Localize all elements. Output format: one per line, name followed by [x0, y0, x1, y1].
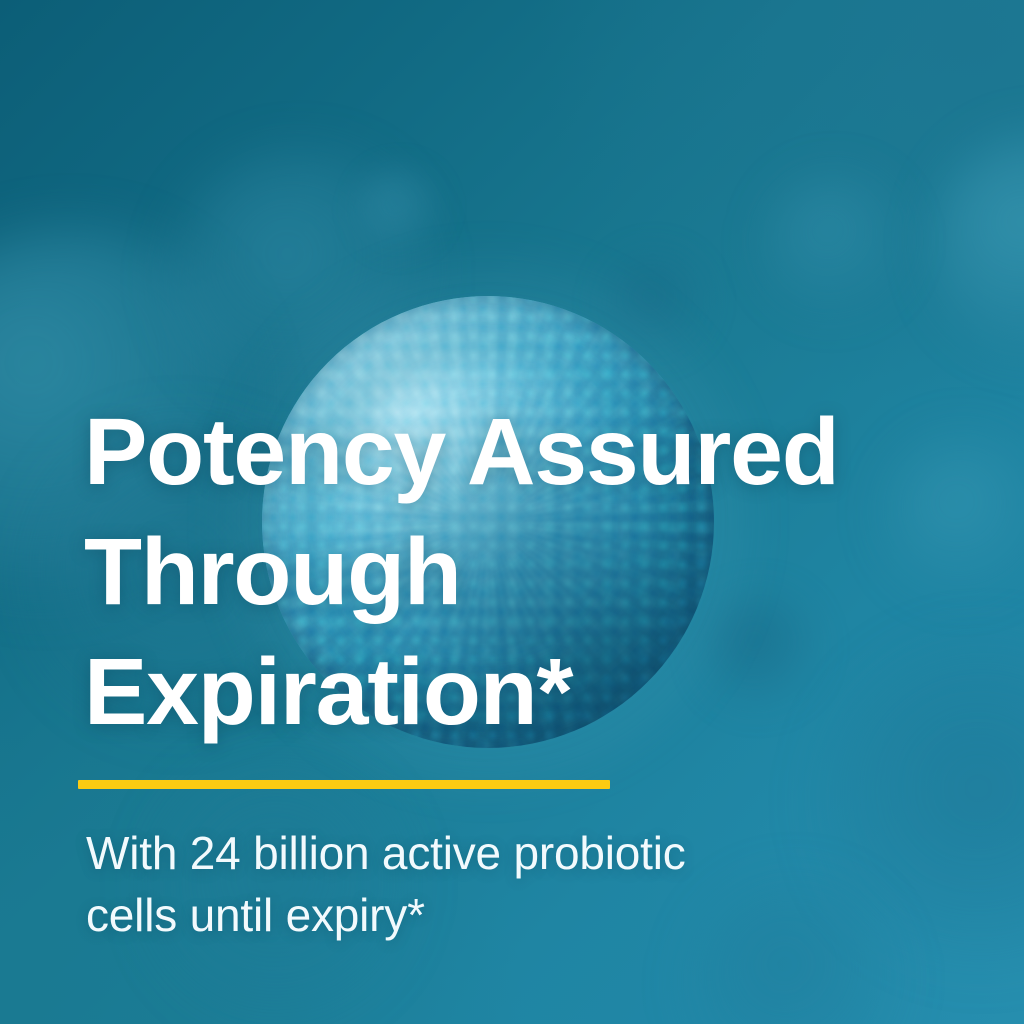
headline-line-2: Through — [84, 512, 914, 632]
headline-line-1: Potency Assured — [84, 392, 914, 512]
subcopy-line-2: cells until expiry* — [86, 884, 914, 946]
promo-graphic: Potency Assured Through Expiration* With… — [0, 0, 1024, 1024]
subcopy: With 24 billion active probiotic cells u… — [86, 822, 914, 946]
headline: Potency Assured Through Expiration* — [84, 392, 914, 752]
subcopy-line-1: With 24 billion active probiotic — [86, 822, 914, 884]
copy-block: Potency Assured Through Expiration* With… — [84, 392, 914, 946]
headline-line-3: Expiration* — [84, 632, 914, 752]
accent-divider — [78, 780, 610, 789]
